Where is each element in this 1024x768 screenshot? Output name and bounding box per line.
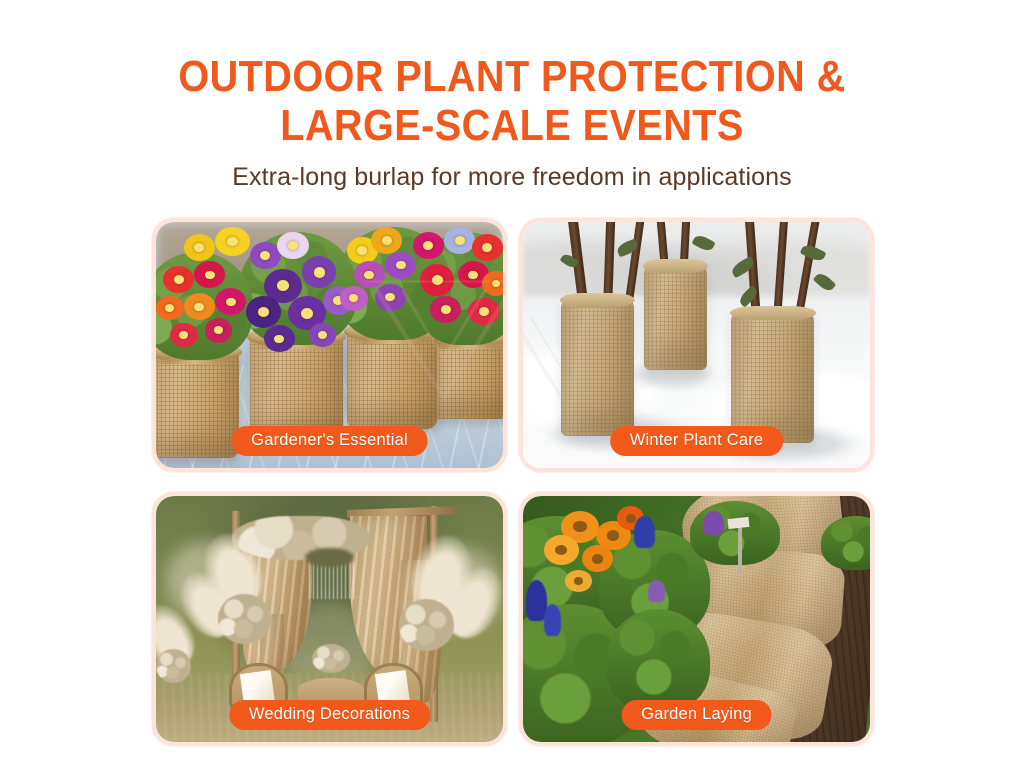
panel-badge-wedding-decorations: Wedding Decorations (229, 700, 430, 730)
panel-badge-winter-plant-care: Winter Plant Care (610, 426, 784, 456)
panel-badge-gardeners-essential: Gardener's Essential (231, 426, 428, 456)
page-subtitle: Extra-long burlap for more freedom in ap… (0, 162, 1024, 192)
panel-winter-plant-care[interactable]: Winter Plant Care (519, 218, 874, 472)
feature-panel-grid: Gardener's Essential (152, 218, 874, 746)
plant-marker (738, 526, 742, 575)
page-title-line2: LARGE-SCALE EVENTS (51, 101, 973, 150)
header: OUTDOOR PLANT PROTECTION & LARGE-SCALE E… (0, 0, 1024, 192)
panel-garden-laying[interactable]: Garden Laying (519, 492, 874, 746)
panel-wedding-decorations[interactable]: Wedding Decorations (152, 492, 507, 746)
panel-badge-garden-laying: Garden Laying (621, 700, 772, 730)
product-infographic: OUTDOOR PLANT PROTECTION & LARGE-SCALE E… (0, 0, 1024, 768)
page-title-line1: OUTDOOR PLANT PROTECTION & (51, 52, 973, 101)
panel-gardeners-essential[interactable]: Gardener's Essential (152, 218, 507, 472)
